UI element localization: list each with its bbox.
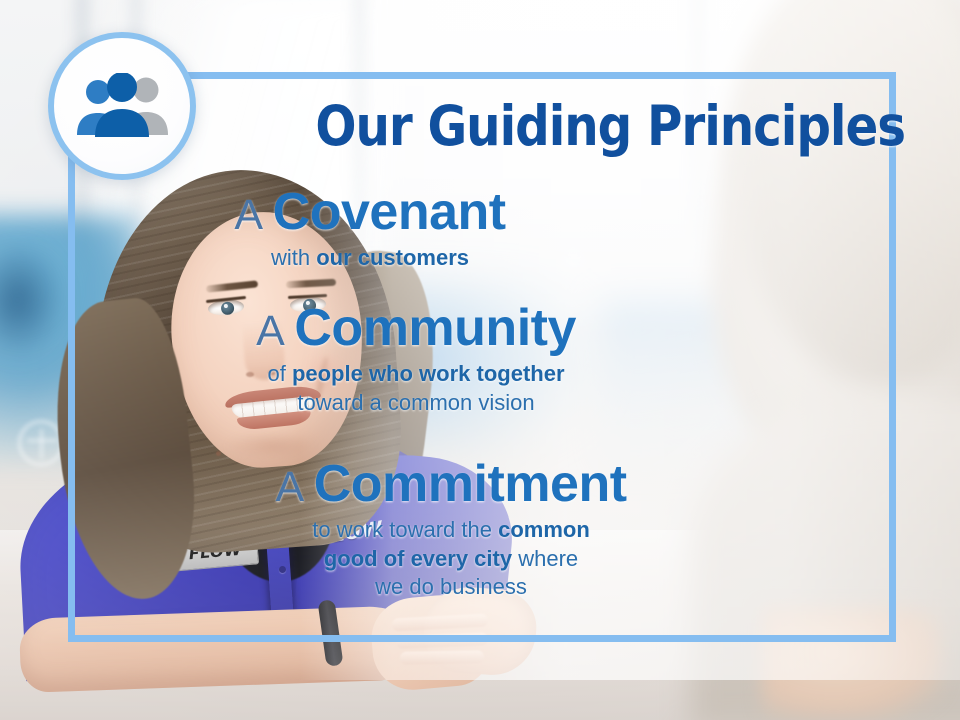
- beauty-mark: [216, 451, 221, 456]
- iris-right: [303, 299, 317, 313]
- people-badge: [48, 32, 196, 180]
- finger: [400, 650, 484, 664]
- nostril-left: [246, 372, 254, 377]
- poster-canvas: FLOW FLOW: [0, 0, 960, 720]
- shirt-button: [279, 566, 286, 573]
- employee-arm: [19, 605, 421, 693]
- iris-left: [221, 301, 235, 315]
- chin-shadow: [226, 432, 318, 460]
- nostril-right: [268, 370, 276, 375]
- people-group-icon: [72, 73, 172, 139]
